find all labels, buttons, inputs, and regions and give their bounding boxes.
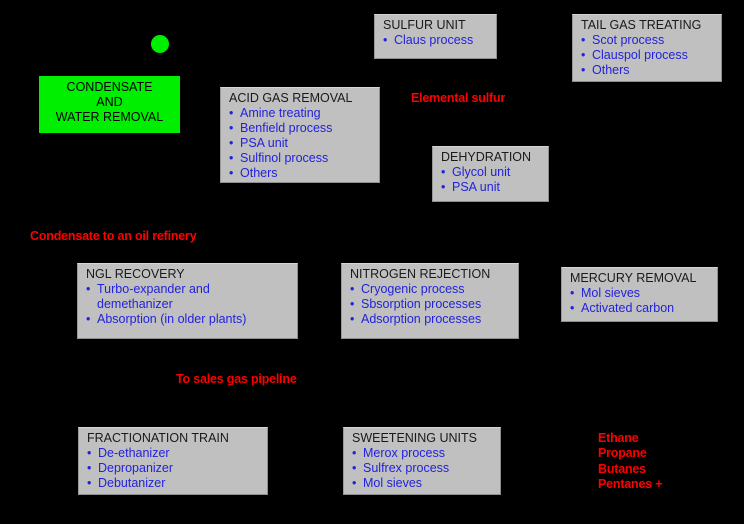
- label-condensate-to-oil-refinery: Condensate to an oil refinery: [30, 229, 196, 244]
- mercury-removal-box[interactable]: MERCURY REMOVAL Mol sieves Activated car…: [561, 267, 718, 322]
- fractionation-train-list: De-ethanizer Depropanizer Debutanizer: [87, 446, 261, 491]
- ngl-recovery-list: Turbo-expander and demethanizer Absorpti…: [86, 282, 291, 327]
- list-item: Others: [229, 166, 373, 181]
- list-item: Adsorption processes: [350, 312, 512, 327]
- list-item: PSA unit: [441, 180, 542, 195]
- dehydration-list: Glycol unit PSA unit: [441, 165, 542, 195]
- ngl-recovery-box[interactable]: NGL RECOVERY Turbo-expander and demethan…: [77, 263, 298, 339]
- acid-gas-removal-title: ACID GAS REMOVAL: [229, 91, 373, 106]
- green-circle-icon: [151, 35, 169, 53]
- tail-gas-treating-box[interactable]: TAIL GAS TREATING Scot process Clauspol …: [572, 14, 722, 82]
- list-item: Claus process: [383, 33, 490, 48]
- sulfur-unit-title: SULFUR UNIT: [383, 18, 490, 33]
- list-item: Depropanizer: [87, 461, 261, 476]
- list-item: PSA unit: [229, 136, 373, 151]
- condensate-box-line-3: WATER REMOVAL: [39, 110, 180, 125]
- dehydration-title: DEHYDRATION: [441, 150, 542, 165]
- fractionation-train-box[interactable]: FRACTIONATION TRAIN De-ethanizer Depropa…: [78, 427, 268, 495]
- sulfur-unit-box[interactable]: SULFUR UNIT Claus process: [374, 14, 497, 59]
- label-elemental-sulfur: Elemental sulfur: [411, 91, 505, 106]
- product-item: Butanes: [598, 462, 662, 477]
- list-item: Activated carbon: [570, 301, 711, 316]
- list-item: Sbsorption processes: [350, 297, 512, 312]
- dehydration-box[interactable]: DEHYDRATION Glycol unit PSA unit: [432, 146, 549, 202]
- list-item: Debutanizer: [87, 476, 261, 491]
- sweetening-units-box[interactable]: SWEETENING UNITS Merox process Sulfrex p…: [343, 427, 501, 495]
- ngl-recovery-title: NGL RECOVERY: [86, 267, 291, 282]
- sweetening-units-title: SWEETENING UNITS: [352, 431, 494, 446]
- list-item: Mol sieves: [352, 476, 494, 491]
- product-item: Ethane: [598, 431, 662, 446]
- fractionation-train-title: FRACTIONATION TRAIN: [87, 431, 261, 446]
- nitrogen-rejection-list: Cryogenic process Sbsorption processes A…: [350, 282, 512, 327]
- list-item: Merox process: [352, 446, 494, 461]
- condensate-and-water-removal-box[interactable]: CONDENSATE AND WATER REMOVAL: [39, 76, 180, 133]
- acid-gas-removal-box[interactable]: ACID GAS REMOVAL Amine treating Benfield…: [220, 87, 380, 183]
- mercury-removal-list: Mol sieves Activated carbon: [570, 286, 711, 316]
- product-item: Propane: [598, 446, 662, 461]
- condensate-box-line-1: CONDENSATE: [39, 80, 180, 95]
- list-item: Turbo-expander and demethanizer: [86, 282, 247, 312]
- list-item: Absorption (in older plants): [86, 312, 291, 327]
- list-item: Glycol unit: [441, 165, 542, 180]
- nitrogen-rejection-title: NITROGEN REJECTION: [350, 267, 512, 282]
- acid-gas-removal-list: Amine treating Benfield process PSA unit…: [229, 106, 373, 181]
- list-item: De-ethanizer: [87, 446, 261, 461]
- list-item: Others: [581, 63, 715, 78]
- product-outputs-list: Ethane Propane Butanes Pentanes +: [598, 431, 662, 492]
- list-item: Scot process: [581, 33, 715, 48]
- list-item: Sulfrex process: [352, 461, 494, 476]
- list-item: Mol sieves: [570, 286, 711, 301]
- tail-gas-treating-title: TAIL GAS TREATING: [581, 18, 715, 33]
- list-item: Clauspol process: [581, 48, 715, 63]
- process-flow-diagram: CONDENSATE AND WATER REMOVAL ACID GAS RE…: [0, 0, 744, 524]
- product-item: Pentanes +: [598, 477, 662, 492]
- list-item: Amine treating: [229, 106, 373, 121]
- mercury-removal-title: MERCURY REMOVAL: [570, 271, 711, 286]
- tail-gas-treating-list: Scot process Clauspol process Others: [581, 33, 715, 78]
- condensate-box-line-2: AND: [39, 95, 180, 110]
- sulfur-unit-list: Claus process: [383, 33, 490, 48]
- sweetening-units-list: Merox process Sulfrex process Mol sieves: [352, 446, 494, 491]
- nitrogen-rejection-box[interactable]: NITROGEN REJECTION Cryogenic process Sbs…: [341, 263, 519, 339]
- label-to-sales-gas-pipeline: To sales gas pipeline: [176, 372, 297, 387]
- list-item: Benfield process: [229, 121, 373, 136]
- list-item: Sulfinol process: [229, 151, 373, 166]
- list-item: Cryogenic process: [350, 282, 512, 297]
